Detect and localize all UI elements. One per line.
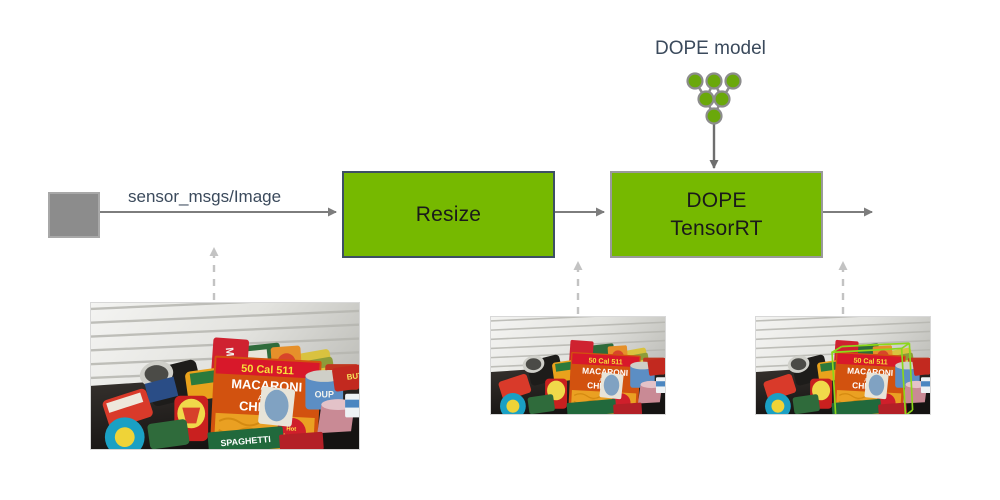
node-dope-label-line-1: DOPE [686,187,746,215]
thumbnail-resized-image[interactable]: 50 Cal 511 MACARONI AND CHEESE [490,316,666,415]
edge-label-sensor-msgs-image: sensor_msgs/Image [128,187,281,207]
svg-text:Hot: Hot [286,426,296,432]
svg-text:OUP: OUP [315,390,334,400]
node-dope-tensorrt[interactable]: DOPE TensorRT [610,171,823,258]
dope-model-label: DOPE model [655,38,766,60]
sensor-source-node[interactable] [48,192,100,238]
thumbnail-input-image[interactable]: Milk 50 Cal 511 MACARONI [90,302,360,450]
diagram-canvas: sensor_msgs/Image Resize DOPE TensorRT D… [0,0,1000,500]
node-resize[interactable]: Resize [342,171,555,258]
neural-network-icon [683,70,745,126]
thumbnail-pose-output-image[interactable]: 50 Cal 511 MACARONI AND CHEESE [755,316,931,415]
node-resize-label-line-1: Resize [416,201,481,229]
node-dope-label-line-2: TensorRT [670,215,762,243]
